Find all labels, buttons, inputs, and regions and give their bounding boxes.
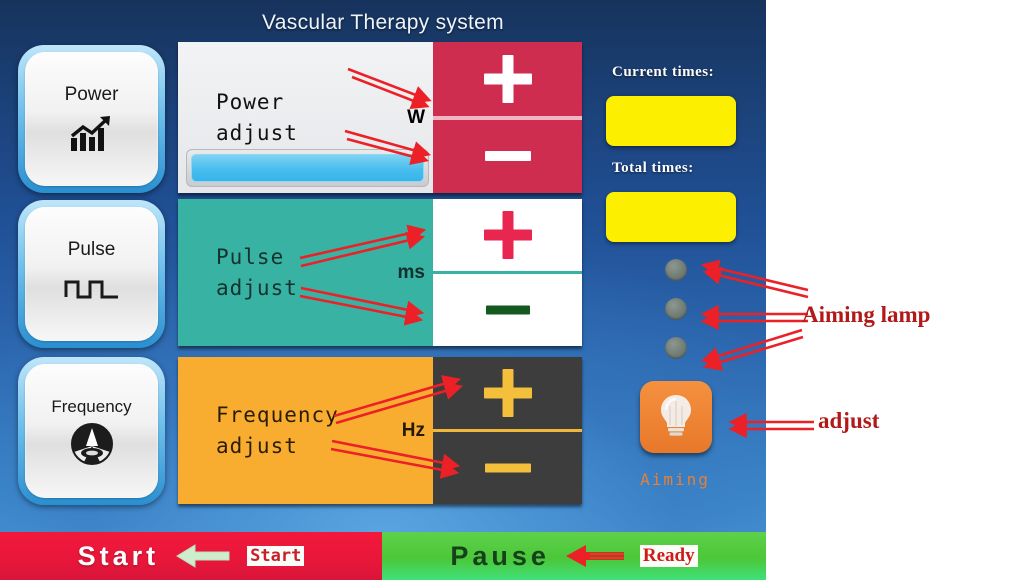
power-increase-button[interactable]	[433, 42, 582, 116]
current-times-label: Current times:	[612, 64, 714, 81]
minus-icon	[478, 126, 538, 186]
plus-icon	[478, 49, 538, 109]
parameter-row-power: Power adjust W	[178, 42, 582, 193]
plus-icon	[478, 363, 538, 423]
frequency-increase-button[interactable]	[433, 357, 582, 429]
frequency-unit-label: Hz	[402, 420, 425, 442]
power-stepper	[433, 42, 582, 193]
frequency-adjust-label-line1: Frequency	[216, 400, 433, 430]
frequency-decrease-button[interactable]	[433, 432, 582, 504]
radial-fan-icon	[70, 422, 114, 466]
aiming-lamp-indicator	[665, 298, 687, 320]
start-annotation-chip: Start	[247, 546, 304, 566]
power-value-slider[interactable]	[186, 149, 429, 187]
device-screen: Vascular Therapy system Power Pulse	[0, 0, 766, 580]
minus-icon	[478, 280, 538, 340]
ready-annotation-chip: Ready	[640, 545, 698, 567]
left-arrow-icon	[175, 543, 231, 569]
frequency-stepper	[433, 357, 582, 504]
action-bar: Start Start Pause Ready	[0, 532, 766, 580]
pause-button[interactable]: Pause Ready	[382, 532, 766, 580]
aiming-lamp-callout: Aiming lamp	[802, 302, 930, 328]
power-adjust-label-line1: Power	[216, 87, 433, 117]
power-adjust-panel: Power adjust W	[178, 42, 433, 193]
left-arrow-icon	[564, 544, 626, 568]
power-decrease-button[interactable]	[433, 120, 582, 194]
adjust-callout: adjust	[818, 408, 879, 434]
pulse-decrease-button[interactable]	[433, 274, 582, 346]
frequency-adjust-label-line2: adjust	[216, 431, 433, 461]
start-button[interactable]: Start Start	[0, 532, 382, 580]
current-times-display	[606, 96, 736, 146]
aiming-button[interactable]	[640, 381, 712, 453]
sidebar-item-label: Frequency	[51, 397, 131, 417]
sidebar-item-frequency[interactable]: Frequency	[18, 357, 165, 505]
aiming-button-label: Aiming	[600, 470, 750, 489]
pulse-unit-label: ms	[398, 262, 425, 284]
minus-icon	[478, 438, 538, 498]
growth-chart-icon	[69, 111, 115, 155]
sidebar-item-power[interactable]: Power	[18, 45, 165, 193]
total-times-display	[606, 192, 736, 242]
parameter-row-frequency: Frequency adjust Hz	[178, 357, 582, 504]
pulse-adjust-panel: Pulse adjust ms	[178, 199, 433, 346]
power-adjust-label-line2: adjust	[216, 118, 433, 148]
square-wave-icon	[64, 266, 120, 310]
pulse-stepper	[433, 199, 582, 346]
sidebar-item-label: Pulse	[68, 239, 116, 261]
page-title: Vascular Therapy system	[0, 11, 766, 35]
start-button-label: Start	[78, 541, 160, 572]
parameter-row-pulse: Pulse adjust ms	[178, 199, 582, 346]
pause-button-label: Pause	[450, 541, 550, 572]
power-unit-label: W	[407, 107, 425, 129]
aiming-lamp-indicator	[665, 259, 687, 281]
sidebar-item-label: Power	[65, 84, 119, 106]
total-times-label: Total times:	[612, 160, 694, 177]
frequency-adjust-panel: Frequency adjust Hz	[178, 357, 433, 504]
plus-icon	[478, 205, 538, 265]
sidebar-item-pulse[interactable]: Pulse	[18, 200, 165, 348]
light-bulb-icon	[656, 392, 696, 443]
aiming-lamp-indicator	[665, 337, 687, 359]
pulse-increase-button[interactable]	[433, 199, 582, 271]
